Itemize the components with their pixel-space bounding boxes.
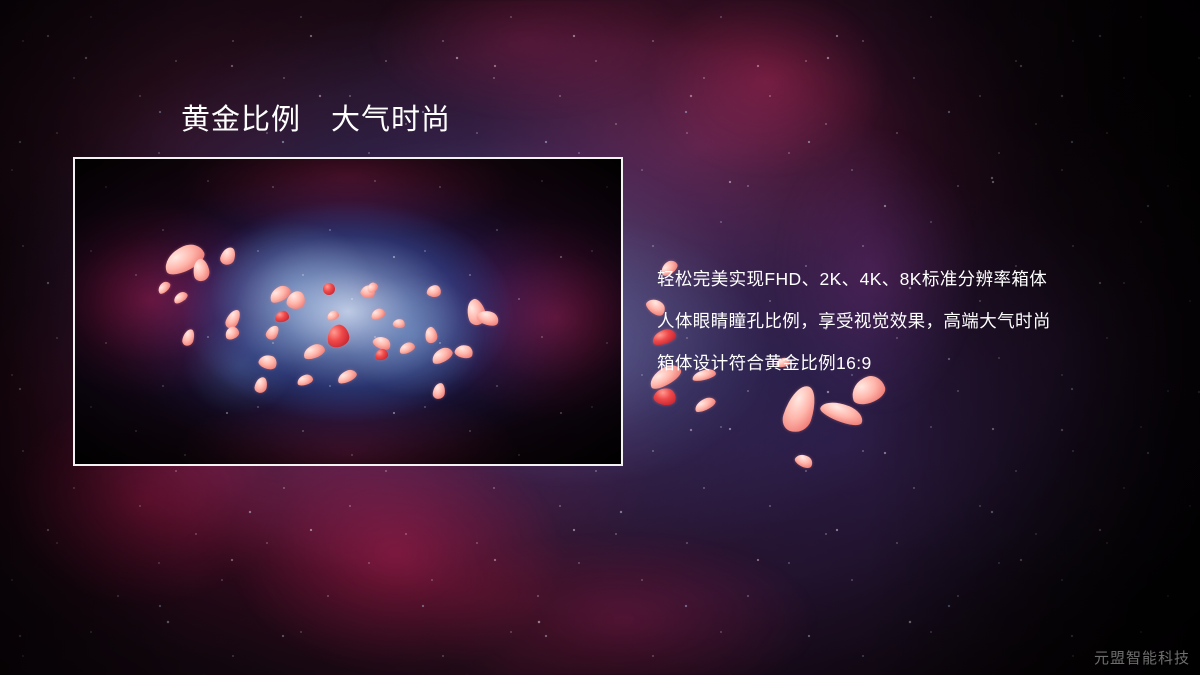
petal-decoration: [429, 345, 454, 366]
petal-decoration: [475, 307, 501, 328]
petal-decoration: [693, 395, 718, 414]
petal-decoration: [191, 258, 211, 283]
petal-decoration: [371, 334, 392, 353]
petal-decoration: [426, 284, 442, 298]
petal-decoration: [257, 352, 279, 372]
petal-decoration: [818, 396, 866, 429]
body-line: 轻松完美实现FHD、2K、4K、8K标准分辨率箱体: [657, 258, 1177, 300]
petal-decoration: [398, 341, 416, 356]
petal-decoration: [181, 328, 196, 347]
petal-decoration: [223, 307, 242, 330]
presentation-slide: 黄金比例 大气时尚 轻松完美实现FHD、2K、4K、8K标准分辨率箱体 人体眼睛…: [0, 0, 1200, 675]
petal-decoration: [274, 310, 289, 323]
petal-decoration: [156, 280, 173, 296]
petal-decoration: [392, 318, 406, 329]
petal-decoration: [254, 376, 269, 394]
petal-decoration: [359, 283, 376, 300]
petal-decoration: [793, 451, 815, 470]
petal-decoration: [779, 382, 820, 436]
petal-decoration: [219, 245, 237, 266]
petal-decoration: [325, 323, 351, 349]
petal-decoration: [160, 239, 208, 278]
petal-decoration: [302, 342, 327, 361]
petal-decoration: [374, 348, 388, 361]
petal-decoration: [463, 297, 488, 327]
petal-decoration: [370, 307, 386, 320]
petal-decoration: [267, 283, 293, 305]
petal-decoration: [336, 368, 359, 386]
body-line: 箱体设计符合黄金比例16:9: [657, 342, 1177, 384]
watermark: 元盟智能科技: [1094, 647, 1190, 668]
panel-nebula-image: [75, 159, 621, 464]
petal-decoration: [223, 325, 240, 341]
petal-decoration: [264, 323, 281, 341]
petal-decoration: [286, 290, 307, 311]
petal-decoration: [454, 343, 475, 360]
petal-decoration: [326, 309, 340, 321]
framed-preview-panel: [73, 157, 623, 466]
petal-decoration: [423, 326, 439, 344]
petal-decoration: [172, 290, 189, 305]
petal-decoration: [365, 281, 379, 294]
body-line: 人体眼睛瞳孔比例，享受视觉效果，高端大气时尚: [657, 300, 1177, 342]
petal-decoration: [652, 386, 677, 408]
page-title: 黄金比例 大气时尚: [181, 103, 451, 138]
petal-decoration: [323, 283, 335, 295]
panel-vignette: [75, 159, 621, 464]
petal-decoration: [296, 373, 314, 387]
panel-starfield: [75, 159, 621, 464]
petal-decoration: [432, 382, 446, 399]
panel-nebula-wisps: [75, 159, 621, 464]
body-text-block: 轻松完美实现FHD、2K、4K、8K标准分辨率箱体 人体眼睛瞳孔比例，享受视觉效…: [657, 258, 1177, 384]
